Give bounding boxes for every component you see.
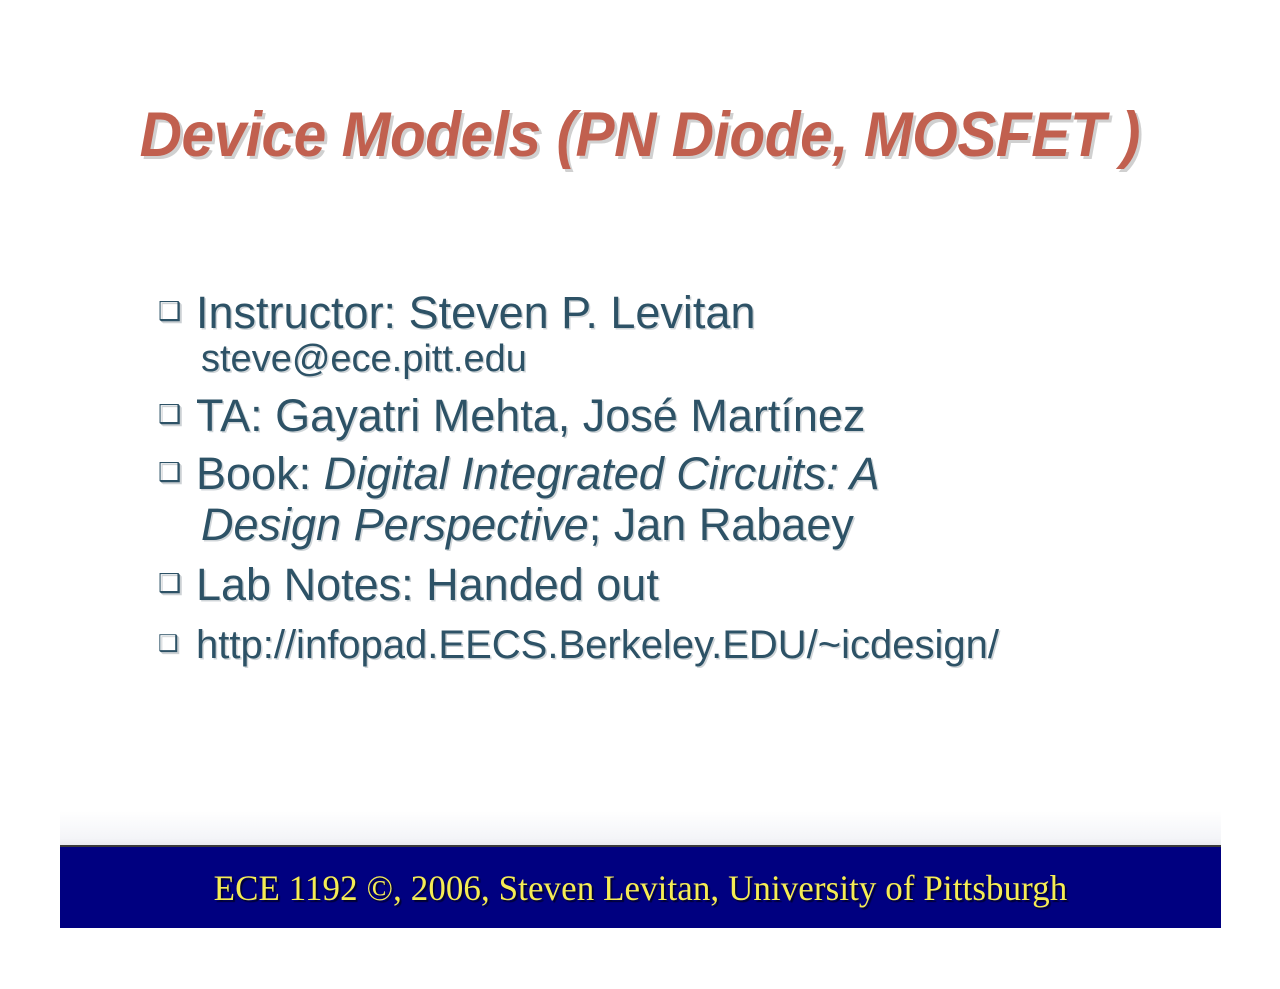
list-item-url: ❑ http://infopad.EECS.Berkeley.EDU/~icde… <box>158 623 1218 668</box>
list-item-ta: ❑ TA: Gayatri Mehta, José Martínez <box>158 391 1218 441</box>
ta-label: TA: Gayatri Mehta, José Martínez <box>196 391 1218 441</box>
presentation-slide: Device Models (PN Diode, MOSFET ) ❑ Inst… <box>0 0 1280 989</box>
page-title: Device Models (PN Diode, MOSFET ) <box>140 104 1140 167</box>
footer-bar: ECE 1192 ©, 2006, Steven Levitan, Univer… <box>60 847 1221 928</box>
list-item-content: Book: Digital Integrated Circuits: A Des… <box>196 449 1218 550</box>
square-bullet-icon: ❑ <box>158 560 196 596</box>
title-area: Device Models (PN Diode, MOSFET ) <box>0 104 1280 167</box>
instructor-email: steve@ece.pitt.edu <box>196 338 1218 381</box>
book-title-line1: Digital Integrated Circuits: A <box>324 448 880 499</box>
footer-divider <box>60 790 1221 847</box>
book-title-line2: Design Perspective <box>201 499 589 550</box>
list-item-instructor: ❑ Instructor: Steven P. Levitan steve@ec… <box>158 288 1218 381</box>
book-author: ; Jan Rabaey <box>589 499 854 550</box>
list-item-book: ❑ Book: Digital Integrated Circuits: A D… <box>158 449 1218 550</box>
bullet-list: ❑ Instructor: Steven P. Levitan steve@ec… <box>158 288 1218 673</box>
lab-notes-label: Lab Notes: Handed out <box>196 560 1218 610</box>
square-bullet-icon: ❑ <box>158 288 196 324</box>
book-prefix: Book: <box>196 448 324 499</box>
list-item-content: Instructor: Steven P. Levitan steve@ece.… <box>196 288 1218 381</box>
square-bullet-icon: ❑ <box>158 623 196 655</box>
footer-copyright-text: ECE 1192 ©, 2006, Steven Levitan, Univer… <box>77 847 1203 928</box>
book-line2: Design Perspective; Jan Rabaey <box>196 500 1218 550</box>
list-item-lab-notes: ❑ Lab Notes: Handed out <box>158 560 1218 610</box>
square-bullet-icon: ❑ <box>158 391 196 427</box>
instructor-label: Instructor: Steven P. Levitan <box>196 287 756 338</box>
square-bullet-icon: ❑ <box>158 449 196 485</box>
course-url-link[interactable]: http://infopad.EECS.Berkeley.EDU/~icdesi… <box>196 623 1218 668</box>
